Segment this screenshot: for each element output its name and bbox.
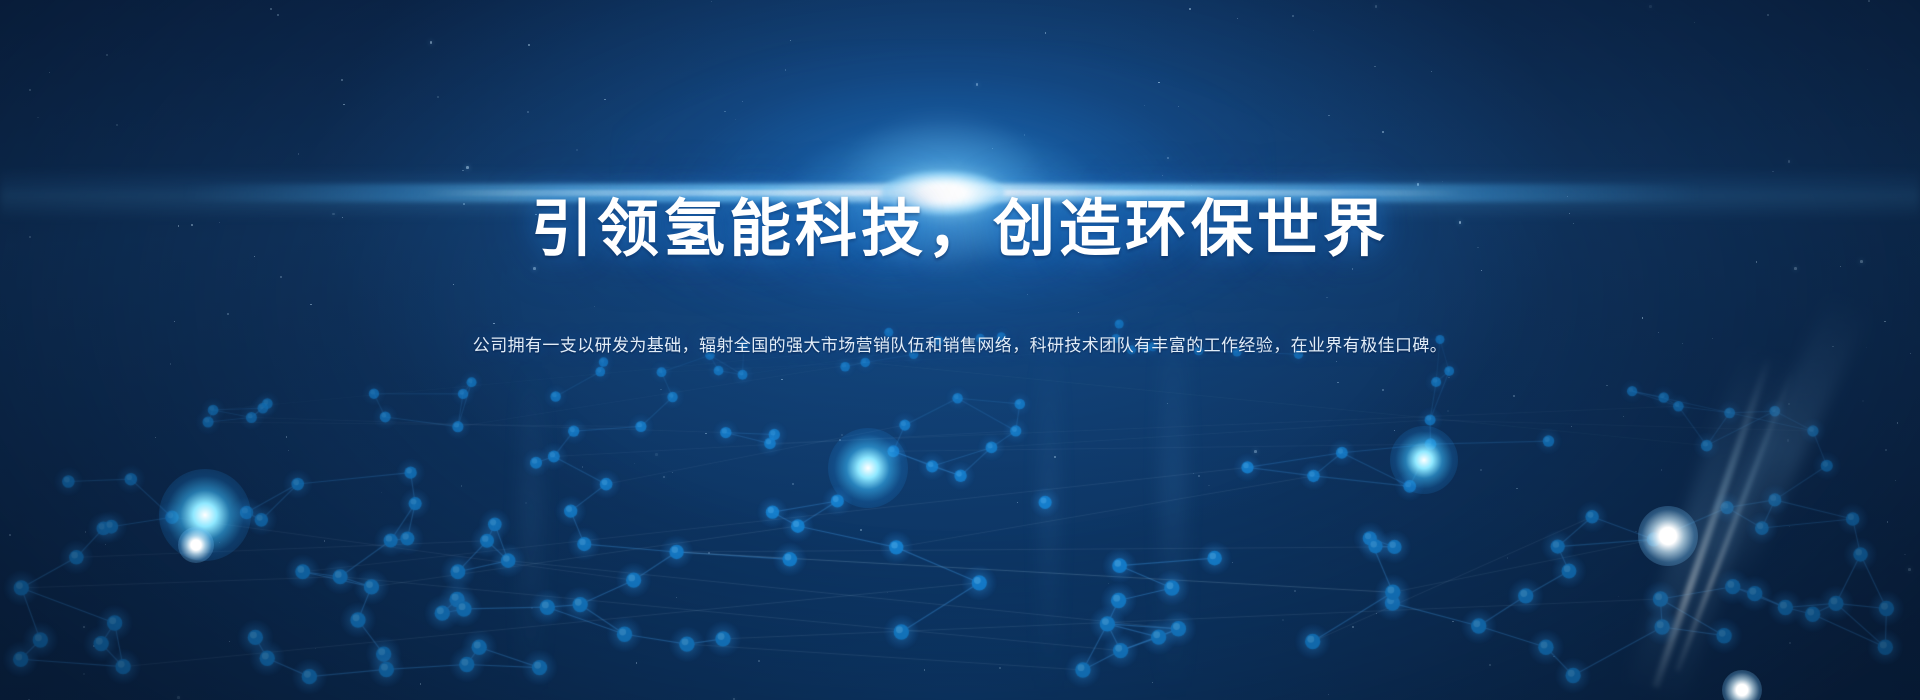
hero-banner: 引领氢能科技，创造环保世界 公司拥有一支以研发为基础，辐射全国的强大市场营销队伍… [0, 0, 1920, 700]
network-mesh-graphic [0, 0, 1920, 700]
